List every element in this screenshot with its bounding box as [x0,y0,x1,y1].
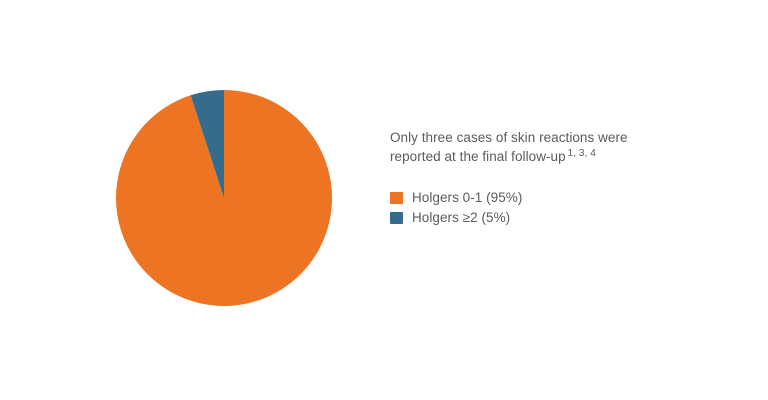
chart-side-panel: Only three cases of skin reactions were … [390,128,730,228]
pie-svg [116,90,332,306]
legend-item-holgers-0-1[interactable]: Holgers 0-1 (95%) [390,188,730,208]
legend-swatch-orange-icon [390,192,403,204]
chart-annotation: Only three cases of skin reactions were … [390,128,658,166]
legend-label-holgers-0-1: Holgers 0-1 (95%) [412,191,522,205]
legend-label-holgers-2-plus: Holgers ≥2 (5%) [412,211,510,225]
pie-chart-plot-area [116,90,332,306]
legend-swatch-blue-icon [390,212,403,224]
chart-annotation-references: 1, 3, 4 [568,148,596,159]
pie-slice-holgers-0-1[interactable] [116,90,332,306]
pie-chart-figure: Only three cases of skin reactions were … [0,0,768,400]
legend-item-holgers-2-plus[interactable]: Holgers ≥2 (5%) [390,208,730,228]
chart-legend: Holgers 0-1 (95%) Holgers ≥2 (5%) [390,188,730,228]
